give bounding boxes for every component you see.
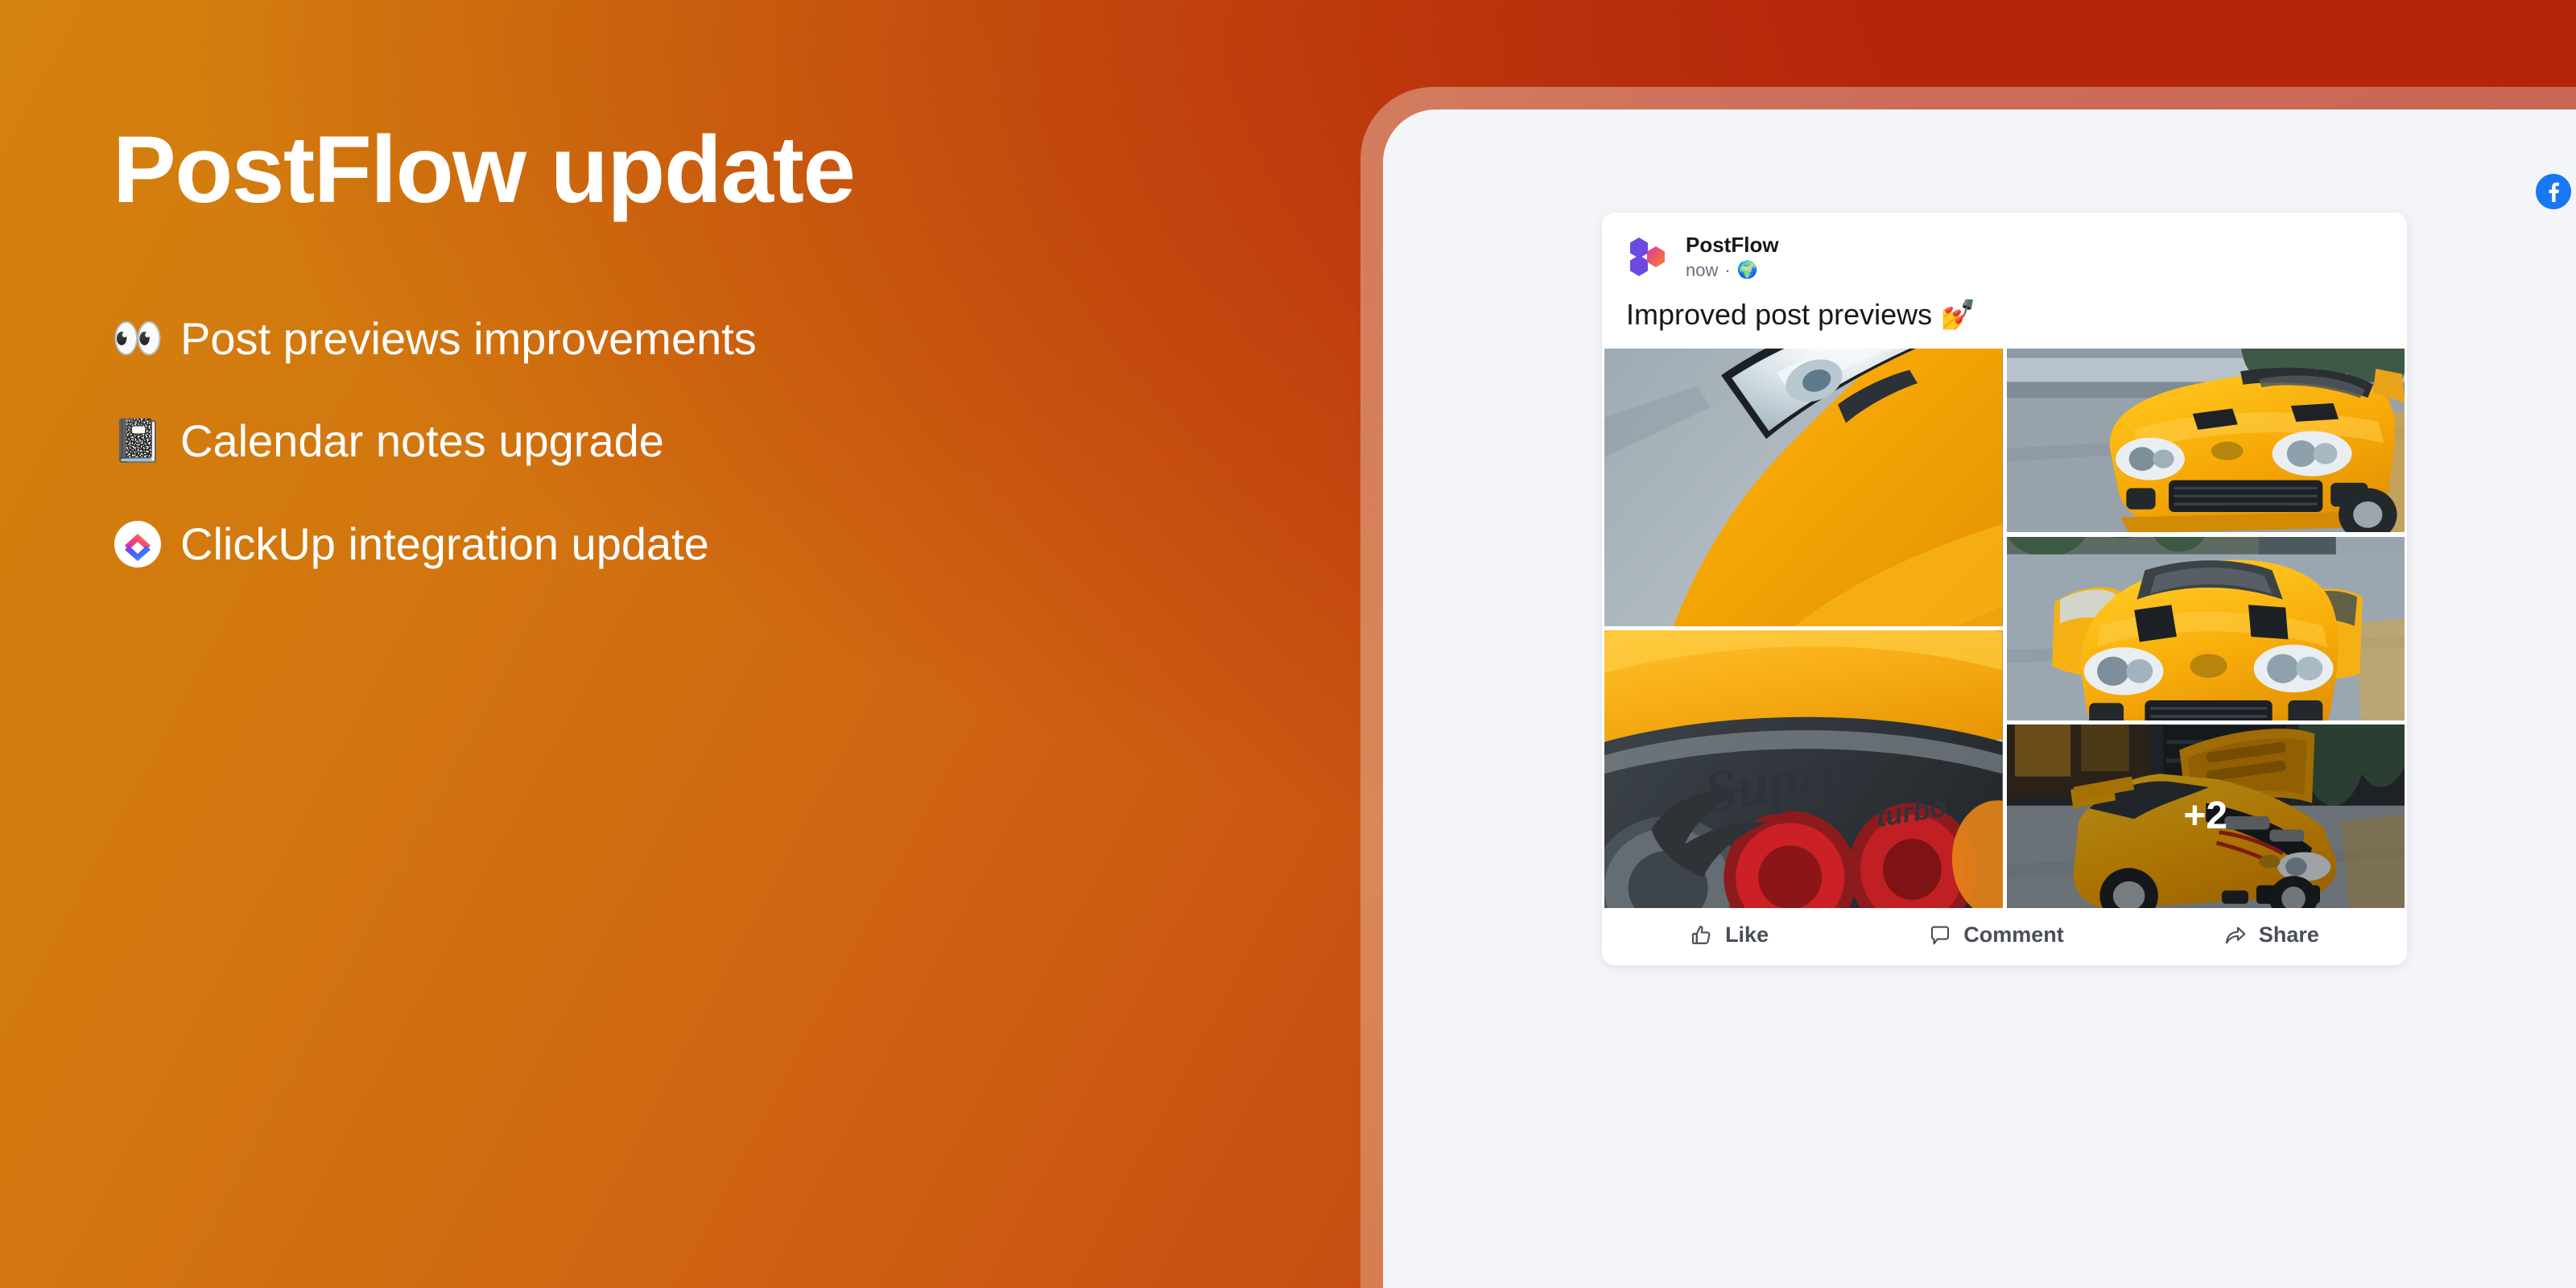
meta-separator: · <box>1724 260 1730 280</box>
list-item: ClickUp integration update <box>113 519 1320 569</box>
post-action-bar: Like Comment <box>1602 908 2407 965</box>
poster-name: PostFlow <box>1686 233 1779 258</box>
list-item-label: Post previews improvements <box>180 314 757 364</box>
notepad-emoji: 📓 <box>113 420 163 462</box>
comment-label: Comment <box>1963 923 2064 947</box>
list-item: 👀 Post previews improvements <box>113 314 1320 364</box>
list-item: 📓 Calendar notes upgrade <box>113 416 1320 466</box>
media-tile[interactable] <box>1604 349 2003 626</box>
media-tile[interactable]: +2 <box>2007 724 2405 908</box>
list-item-label: ClickUp integration update <box>180 519 709 569</box>
media-column-right: +2 <box>2007 349 2405 908</box>
extra-photo-count: +2 <box>2183 794 2227 838</box>
poster-meta: PostFlow now · 🌍 <box>1686 233 1779 280</box>
thumbs-up-icon <box>1690 923 1714 947</box>
media-tile[interactable] <box>2007 349 2405 532</box>
share-label: Share <box>2259 923 2319 947</box>
device-screen: PostFlow now · 🌍 Improved post previews … <box>1383 109 2576 1288</box>
eyes-emoji: 👀 <box>113 318 163 360</box>
device-frame: PostFlow now · 🌍 Improved post previews … <box>1360 87 2576 1288</box>
clickup-logo-wrap <box>113 521 163 568</box>
comment-button[interactable]: Comment <box>1928 923 2064 947</box>
list-item-label: Calendar notes upgrade <box>180 416 664 466</box>
feature-bullet-list: 👀 Post previews improvements 📓 Calendar … <box>113 314 1320 569</box>
avatar <box>1626 236 1668 278</box>
media-tile[interactable] <box>2007 537 2405 720</box>
post-header: PostFlow now · 🌍 <box>1602 213 2407 280</box>
globe-icon: 🌍 <box>1737 262 1758 279</box>
share-button[interactable]: Share <box>2223 923 2319 947</box>
speech-bubble-icon <box>1928 923 1952 947</box>
post-timestamp: now <box>1686 260 1718 280</box>
facebook-icon <box>2536 174 2571 209</box>
media-column-left: Supra turbo <box>1604 349 2003 908</box>
post-media-grid: Supra turbo <box>1602 349 2407 908</box>
page-title: PostFlow update <box>113 121 1320 221</box>
clickup-logo-icon <box>114 521 161 568</box>
post-body-text: Improved post previews 💅 <box>1602 280 2407 349</box>
like-button[interactable]: Like <box>1690 923 1769 947</box>
media-tile[interactable]: Supra turbo <box>1604 630 2003 908</box>
like-label: Like <box>1725 923 1769 947</box>
left-content-panel: PostFlow update 👀 Post previews improvem… <box>113 121 1320 569</box>
media-overlay[interactable]: +2 <box>2007 724 2405 908</box>
social-post-card: PostFlow now · 🌍 Improved post previews … <box>1602 213 2407 965</box>
share-arrow-icon <box>2223 923 2248 947</box>
poster-canvas: PostFlow update 👀 Post previews improvem… <box>0 0 2576 1288</box>
post-meta-line: now · 🌍 <box>1686 260 1779 280</box>
